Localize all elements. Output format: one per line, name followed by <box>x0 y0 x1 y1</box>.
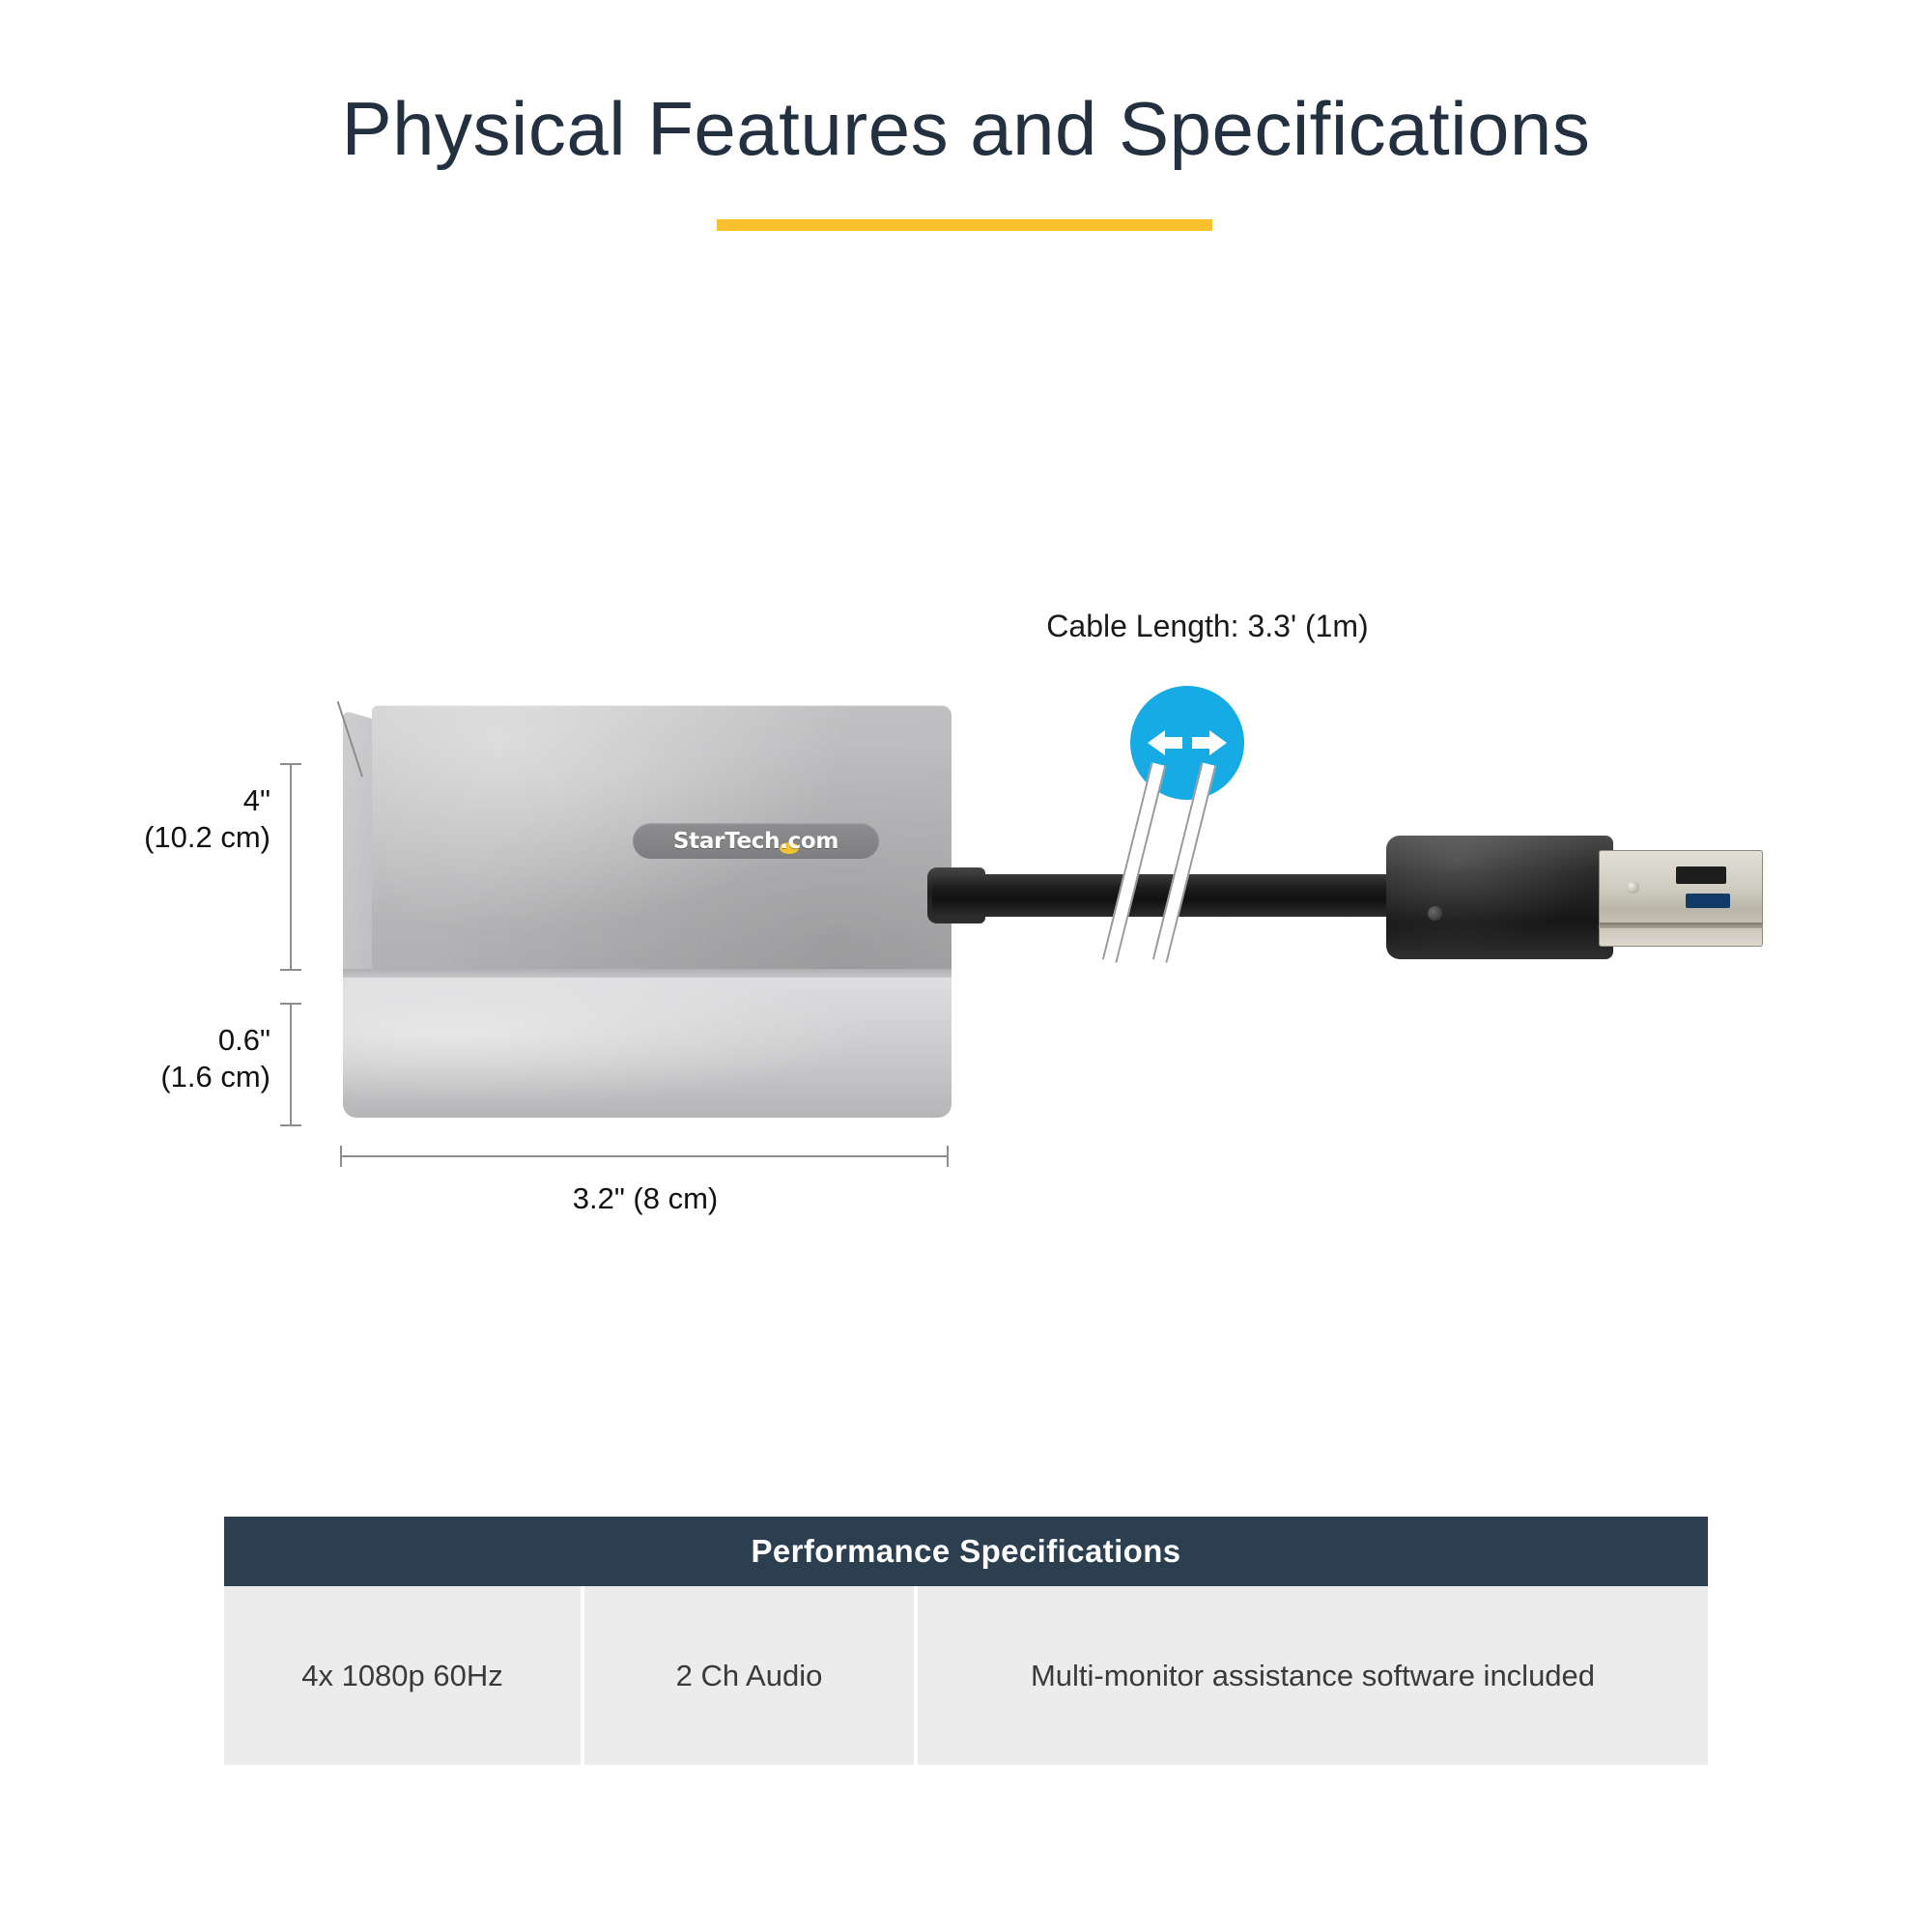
product-illustration: StarTech.com 4" (10.2 cm) 0.6" (1.6 c <box>0 0 1932 1449</box>
spec-table-header-text: Performance Specifications <box>751 1533 1180 1570</box>
depth-dim-tick-top <box>280 1003 301 1005</box>
usb-housing-screw-icon <box>1428 906 1442 921</box>
brand-logo-text: StarTech.com <box>673 829 838 854</box>
adapter-front-face <box>343 978 952 1118</box>
width-dimension-label: 3.2" (8 cm) <box>340 1180 951 1217</box>
height-dim-tick-top <box>280 763 301 765</box>
usb-plug-dimple <box>1627 881 1639 894</box>
cable-break-marks <box>1101 802 1294 995</box>
usb-a-metal-plug <box>1599 850 1763 947</box>
height-metric: (10.2 cm) <box>29 819 270 856</box>
width-dim-line <box>340 1155 949 1157</box>
product-spec-page: Physical Features and Specifications Cab… <box>0 0 1932 1932</box>
width-dim-tick-right <box>947 1146 949 1167</box>
break-mark-line <box>1102 762 1166 963</box>
brand-logo-badge: StarTech.com <box>633 823 879 859</box>
usb-plug-seam <box>1599 923 1763 928</box>
spec-cell-software: Multi-monitor assistance software includ… <box>918 1586 1708 1765</box>
usb-connector-housing <box>1386 836 1613 959</box>
usb-contact-slot-upper <box>1676 867 1726 884</box>
break-mark-line <box>1152 762 1216 963</box>
height-dim-tick-bottom <box>280 969 301 971</box>
depth-dim-tick-bottom <box>280 1124 301 1126</box>
usb-contact-slot-lower <box>1686 894 1730 908</box>
height-dimension-label: 4" (10.2 cm) <box>29 782 270 857</box>
depth-dimension-label: 0.6" (1.6 cm) <box>29 1022 270 1096</box>
height-imperial: 4" <box>29 782 270 819</box>
depth-imperial: 0.6" <box>29 1022 270 1059</box>
spec-cell-resolution: 4x 1080p 60Hz <box>224 1586 584 1765</box>
adapter-left-edge <box>343 710 376 980</box>
spec-cell-audio: 2 Ch Audio <box>584 1586 918 1765</box>
spec-table-row: 4x 1080p 60Hz 2 Ch Audio Multi-monitor a… <box>224 1586 1708 1765</box>
depth-dim-line <box>290 1003 292 1126</box>
performance-specifications-table: Performance Specifications 4x 1080p 60Hz… <box>224 1517 1708 1765</box>
depth-metric: (1.6 cm) <box>29 1059 270 1095</box>
spec-table-header: Performance Specifications <box>224 1517 1708 1586</box>
height-dim-line <box>290 763 292 971</box>
width-dim-tick-left <box>340 1146 342 1167</box>
